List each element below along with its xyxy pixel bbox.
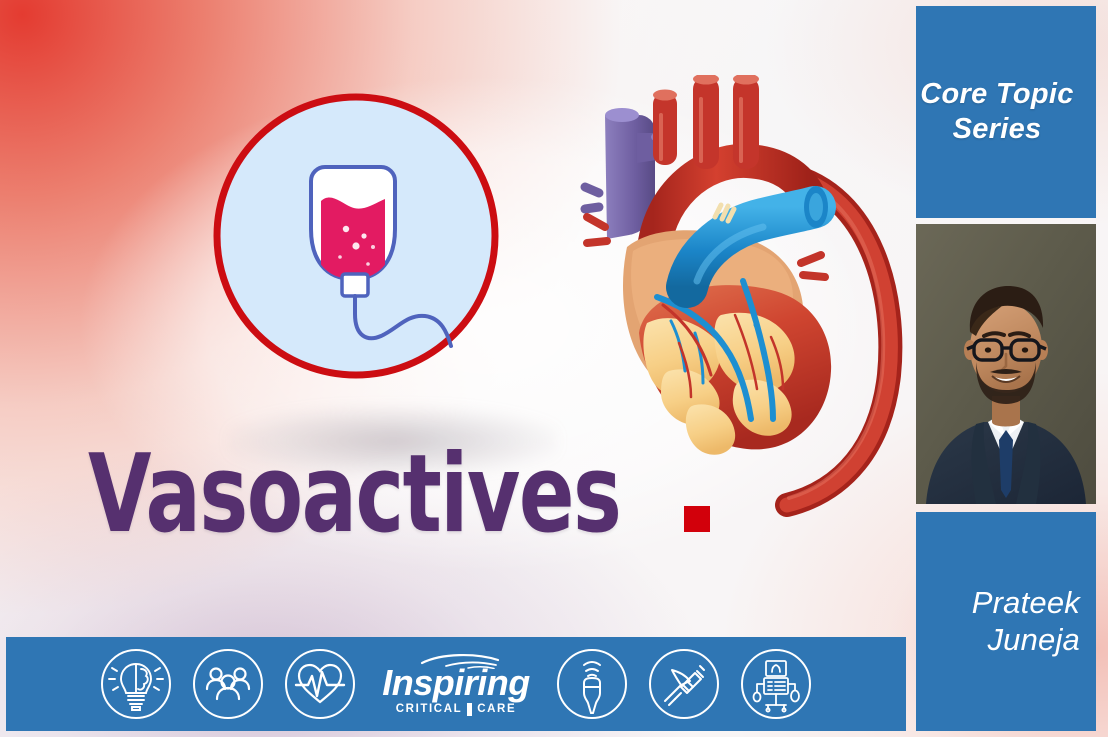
footer-bar: Inspiring CRITICAL CARE — [6, 637, 906, 731]
people-group-icon — [191, 647, 265, 721]
heart-ecg-icon — [283, 647, 357, 721]
title-accent-square — [684, 506, 710, 532]
series-label: Core Topic Series — [916, 77, 1078, 148]
page-title: Vasoactives — [88, 445, 620, 544]
iv-bag-illustration — [209, 89, 503, 383]
series-badge: Core Topic Series — [916, 6, 1096, 218]
presenter-photo — [916, 224, 1096, 504]
scalpel-syringe-icon — [647, 647, 721, 721]
presenter-name-badge: Prateek Juneja — [916, 512, 1096, 731]
avatar — [916, 224, 1096, 504]
logo-wordmark: Inspiring — [382, 665, 530, 701]
logo-tagline: CRITICAL CARE — [396, 703, 516, 716]
ventilator-monitor-icon — [739, 647, 813, 721]
brand-logo: Inspiring CRITICAL CARE — [380, 653, 532, 716]
presenter-name: Prateek Juneja — [916, 585, 1080, 658]
logo-tagline-right: CARE — [477, 703, 516, 715]
logo-tagline-left: CRITICAL — [396, 703, 462, 715]
presentation-slide: Vasoactives Core Topic Series — [0, 0, 1108, 737]
iv-bag-in-circle-icon — [209, 89, 503, 383]
ultrasound-probe-icon — [555, 647, 629, 721]
lightbulb-brain-icon — [99, 647, 173, 721]
logo-tagline-divider — [467, 703, 472, 716]
slide-title-block: Vasoactives — [88, 414, 708, 544]
